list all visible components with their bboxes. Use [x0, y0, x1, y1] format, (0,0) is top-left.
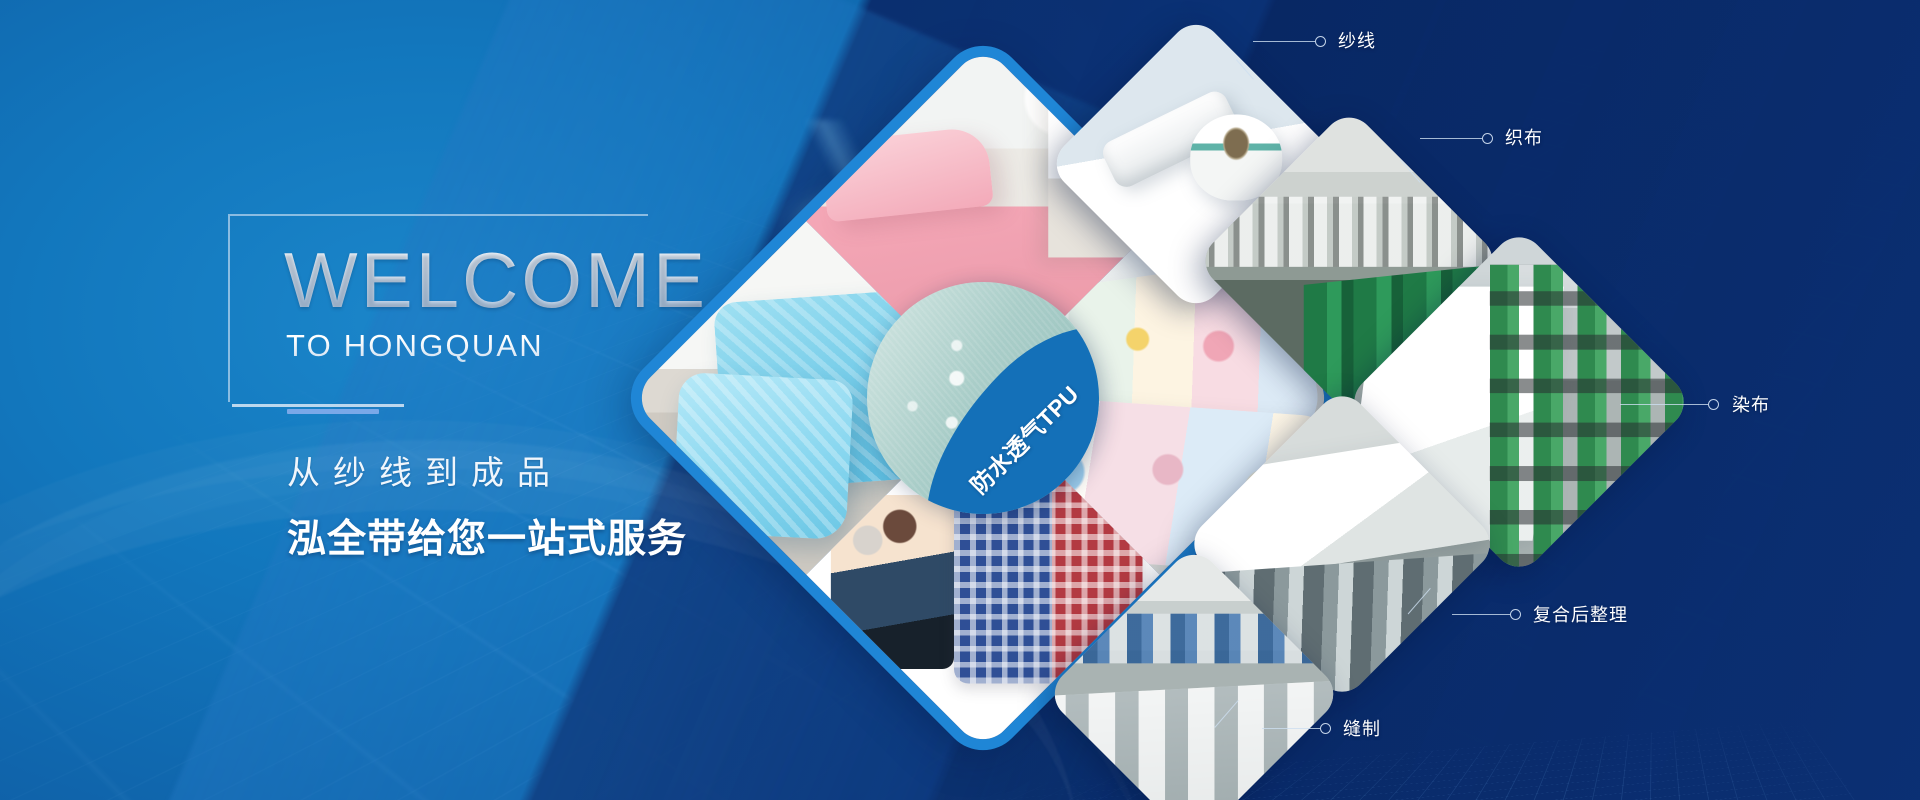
accent-rule — [287, 409, 379, 414]
leader-endpoint-dot — [1315, 36, 1326, 47]
callout-label-weaving: 织布 — [1505, 124, 1543, 150]
callout-label-sewing: 缝制 — [1343, 715, 1381, 741]
leader-endpoint-dot — [1320, 723, 1331, 734]
leader-horizontal — [1262, 728, 1320, 729]
welcome-banner: WELCOME TO HONGQUAN 从纱线到成品 泓全带给您一站式服务 防水… — [0, 0, 1920, 800]
callout-label-lamination: 复合后整理 — [1533, 601, 1628, 627]
leader-endpoint-dot — [1510, 609, 1521, 620]
leader-horizontal — [1620, 404, 1708, 405]
callout-label-dyeing: 染布 — [1732, 391, 1770, 417]
bottom-divider-rule — [232, 404, 404, 407]
leader-endpoint-dot — [1708, 399, 1719, 410]
leader-horizontal — [1452, 614, 1510, 615]
leader-horizontal — [1253, 41, 1315, 42]
leader-horizontal — [1420, 138, 1482, 139]
callout-label-yarn: 纱线 — [1338, 27, 1376, 53]
leader-endpoint-dot — [1482, 133, 1493, 144]
